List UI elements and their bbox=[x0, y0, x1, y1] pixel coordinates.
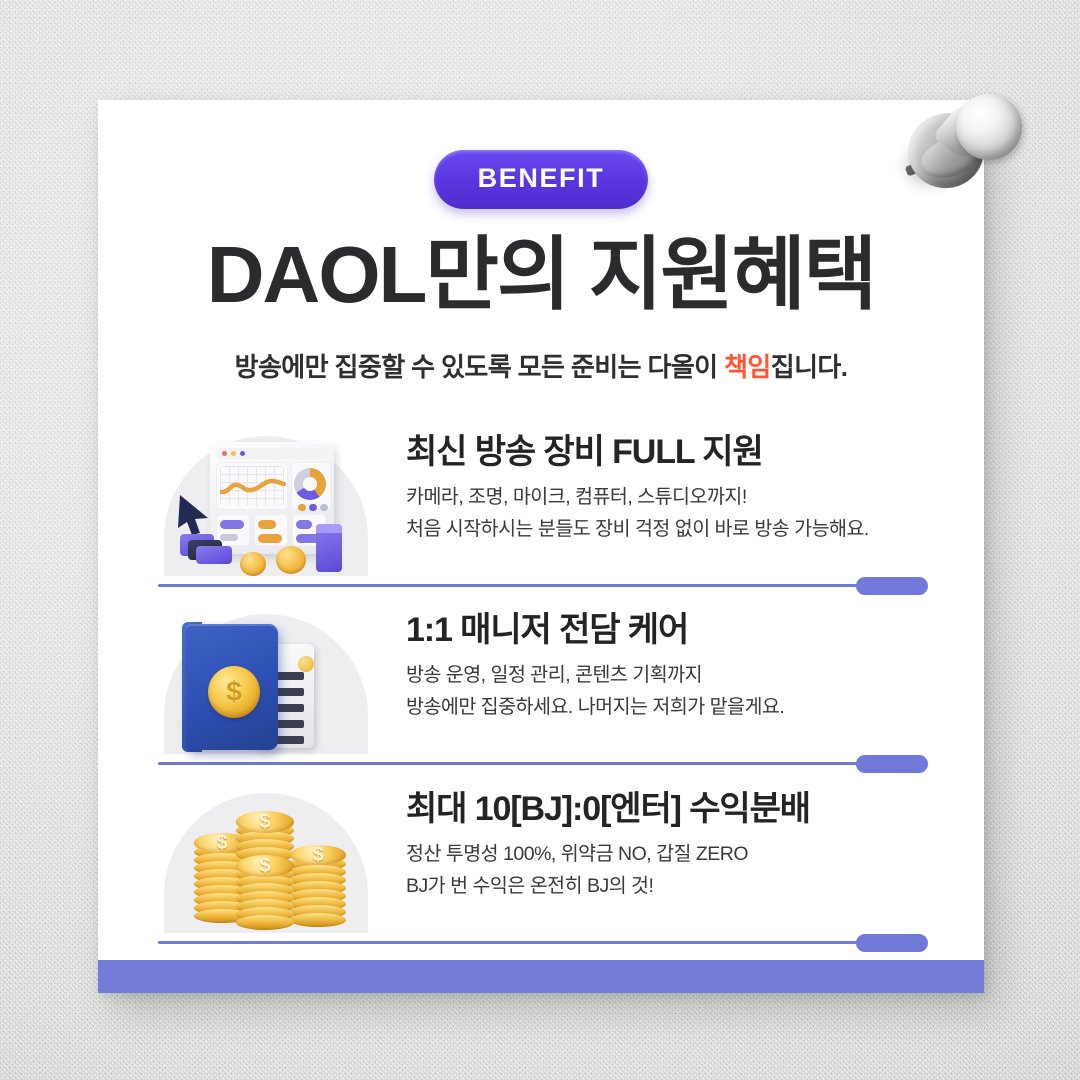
divider-cap bbox=[856, 755, 928, 773]
divider-cap bbox=[856, 577, 928, 595]
subtitle-text-before: 방송에만 집중할 수 있도록 모든 준비는 다올이 bbox=[235, 352, 724, 382]
benefit-text: 최대 10[BJ]:0[엔터] 수익분배 정산 투명성 100%, 위약금 NO… bbox=[406, 789, 928, 903]
benefit-divider bbox=[158, 755, 928, 773]
page-subtitle: 방송에만 집중할 수 있도록 모든 준비는 다올이 책임집니다. bbox=[98, 347, 984, 384]
benefit-item: 최대 10[BJ]:0[엔터] 수익분배 정산 투명성 100%, 위약금 NO… bbox=[154, 787, 928, 952]
analytics-dashboard-icon bbox=[158, 430, 374, 576]
benefit-text: 1:1 매니저 전담 케어 방송 운영, 일정 관리, 콘텐츠 기획까지 방송에… bbox=[406, 610, 928, 724]
benefit-line: BJ가 번 수익은 온전히 BJ의 것! bbox=[406, 871, 928, 903]
ledger-book-coin-icon bbox=[158, 608, 374, 754]
benefit-text: 최신 방송 장비 FULL 지원 카메라, 조명, 마이크, 컴퓨터, 스튜디오… bbox=[406, 432, 928, 546]
benefit-divider bbox=[158, 934, 928, 952]
coin-stacks-icon bbox=[158, 787, 374, 933]
badge-row: BENEFIT bbox=[98, 150, 984, 209]
benefit-heading: 최신 방송 장비 FULL 지원 bbox=[406, 432, 928, 473]
benefit-line: 방송 운영, 일정 관리, 콘텐츠 기획까지 bbox=[406, 660, 928, 692]
benefit-item: 최신 방송 장비 FULL 지원 카메라, 조명, 마이크, 컴퓨터, 스튜디오… bbox=[154, 430, 928, 595]
benefit-item: 1:1 매니저 전담 케어 방송 운영, 일정 관리, 콘텐츠 기획까지 방송에… bbox=[154, 608, 928, 773]
divider-cap bbox=[856, 934, 928, 952]
benefit-heading: 1:1 매니저 전담 케어 bbox=[406, 610, 928, 651]
page-title: DAOL만의 지원혜택 bbox=[98, 232, 984, 318]
benefit-divider bbox=[158, 577, 928, 595]
benefit-line: 정산 투명성 100%, 위약금 NO, 갑질 ZERO bbox=[406, 839, 928, 871]
subtitle-text-after: 집니다. bbox=[771, 352, 848, 382]
benefit-heading: 최대 10[BJ]:0[엔터] 수익분배 bbox=[406, 789, 928, 830]
benefit-line: 처음 시작하시는 분들도 장비 걱정 없이 바로 방송 가능해요. bbox=[406, 514, 928, 546]
benefit-line: 카메라, 조명, 마이크, 컴퓨터, 스튜디오까지! bbox=[406, 482, 928, 514]
footer-accent-bar bbox=[98, 960, 984, 993]
benefit-badge[interactable]: BENEFIT bbox=[434, 150, 649, 209]
benefit-line: 방송에만 집중하세요. 나머지는 저희가 맡을게요. bbox=[406, 692, 928, 724]
poster-card: BENEFIT DAOL만의 지원혜택 방송에만 집중할 수 있도록 모든 준비… bbox=[98, 100, 984, 993]
subtitle-highlight: 책임 bbox=[724, 352, 771, 382]
